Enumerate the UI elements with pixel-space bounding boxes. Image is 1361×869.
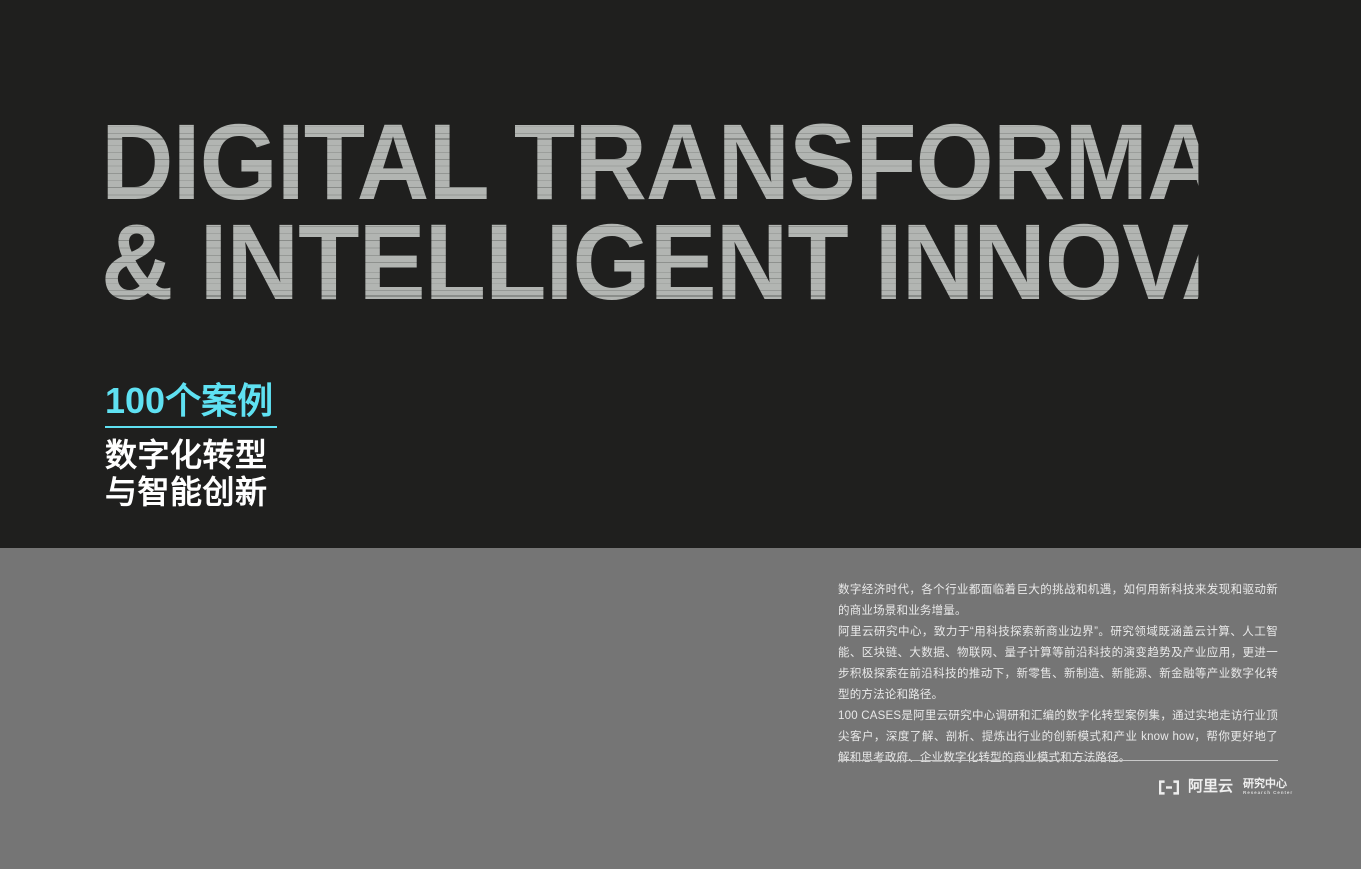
description-paragraph: 阿里云研究中心，致力于“用科技探索新商业边界”。研究领域既涵盖云计算、人工智能、… (838, 622, 1278, 706)
logo-unit-block: 研究中心 Research Center (1243, 778, 1293, 796)
kicker-block: 100个案例 数字化转型 与智能创新 (105, 380, 425, 511)
hero-section: DIGITAL TRANSFORMATION & INTELLIGENT INN… (0, 0, 1361, 548)
aliyun-research-center-logo: 阿里云 研究中心 Research Center (1157, 776, 1293, 798)
lower-section: 数字经济时代，各个行业都面临着巨大的挑战和机遇，如何用新科技来发现和驱动新的商业… (0, 548, 1361, 869)
logo-brand-name: 阿里云 (1188, 779, 1233, 795)
kicker-text: 100个案例 (105, 380, 425, 422)
display-title-line-2: & INTELLIGENT INNOVATION (101, 212, 1198, 312)
logo-unit-en: Research Center (1243, 790, 1293, 796)
footer-divider (838, 760, 1278, 761)
description-block: 数字经济时代，各个行业都面临着巨大的挑战和机遇，如何用新科技来发现和驱动新的商业… (838, 580, 1278, 769)
kicker-divider (105, 426, 277, 428)
aliyun-bracket-icon (1157, 780, 1181, 795)
poster-page: DIGITAL TRANSFORMATION & INTELLIGENT INN… (0, 0, 1361, 869)
subtitle-line-1: 数字化转型 (105, 437, 425, 474)
logo-unit-cn: 研究中心 (1243, 778, 1293, 790)
display-title: DIGITAL TRANSFORMATION & INTELLIGENT INN… (101, 112, 1281, 312)
display-title-line-1: DIGITAL TRANSFORMATION (101, 112, 1198, 212)
description-paragraph: 数字经济时代，各个行业都面临着巨大的挑战和机遇，如何用新科技来发现和驱动新的商业… (838, 580, 1278, 622)
subtitle-line-2: 与智能创新 (105, 474, 425, 511)
